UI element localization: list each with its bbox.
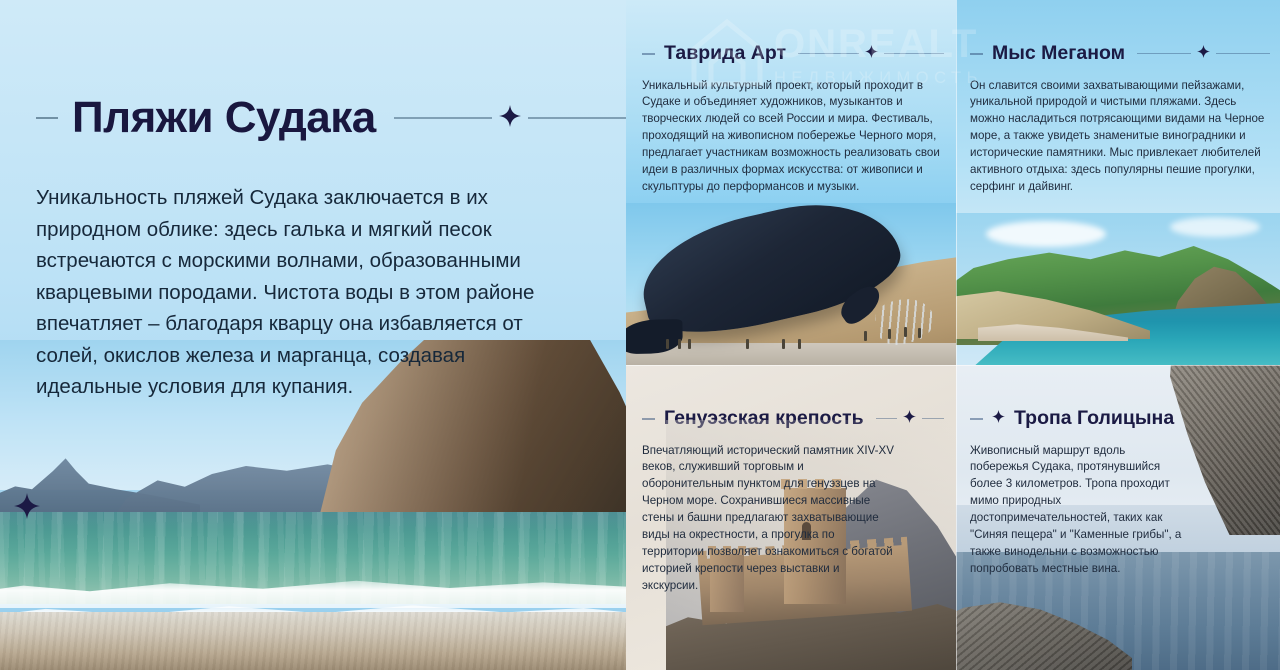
card-body: Уникальный культурный проект, который пр… (642, 78, 944, 196)
title-trailing-rule-2 (528, 117, 626, 119)
card-body-text: Живописный маршрут вдоль побережья Судак… (970, 443, 1185, 578)
title-trailing-rule (394, 117, 492, 119)
card-tavrida-art[interactable]: Таврида Арт Уникальный культурный проект… (626, 0, 956, 365)
hero-description-text: Уникальность пляжей Судака заключается в… (36, 182, 556, 403)
card-leading-rule (970, 53, 983, 55)
photo-cloud-2 (1170, 217, 1260, 237)
suadak-beaches-infographic: Пляжи Судака Уникальность пляжей Судака … (0, 0, 1280, 670)
card-title: Тропа Голицына (1014, 409, 1174, 429)
card-photo-whale-sculpture (626, 203, 956, 365)
title-leading-rule (36, 117, 58, 119)
card-content: Мыс Меганом Он славится своими захватыва… (956, 0, 1280, 196)
card-mys-meganom[interactable]: Мыс Меганом Он славится своими захватыва… (956, 0, 1280, 365)
sparkle-icon (992, 410, 1005, 428)
hero-text-block: Пляжи Судака Уникальность пляжей Судака … (0, 0, 626, 403)
page-title: Пляжи Судака (72, 96, 376, 140)
grid-vertical-divider (956, 0, 957, 670)
card-body: Живописный маршрут вдоль побережья Судак… (970, 443, 1185, 578)
grid-horizontal-divider (626, 365, 1280, 366)
title-trailing-decoration (394, 105, 626, 132)
card-body-text: Впечатляющий исторический памятник XIV-X… (642, 443, 897, 595)
hero-pebble-beach (0, 612, 626, 670)
page-title-row: Пляжи Судака (36, 96, 626, 140)
card-trailing-rule-2 (1216, 53, 1270, 54)
card-photo-meganom-bay (956, 213, 1280, 365)
card-leading-rule (642, 418, 655, 420)
card-trailing-rule-2 (922, 418, 944, 419)
card-leading-rule (642, 53, 655, 55)
photo-visitors (626, 327, 956, 349)
sparkle-icon (865, 45, 878, 63)
hero-description: Уникальность пляжей Судака заключается в… (36, 182, 556, 403)
card-golitsyn-trail[interactable]: Тропа Голицына Живописный маршрут вдоль … (956, 365, 1280, 670)
card-header: Генуэзская крепость (642, 365, 944, 429)
card-trailing-rule (876, 418, 898, 419)
card-body-text: Он славится своими захватывающими пейзаж… (970, 78, 1270, 196)
card-trailing-rule-2 (884, 53, 944, 54)
photo-cloud (986, 221, 1106, 247)
card-title: Таврида Арт (664, 44, 786, 64)
card-leading-rule (970, 418, 983, 420)
card-trailing-rule (798, 53, 858, 54)
card-trailing-decoration (798, 45, 944, 63)
card-trailing-decoration (1137, 45, 1270, 63)
left-hero-panel: Пляжи Судака Уникальность пляжей Судака … (0, 0, 626, 670)
sparkle-icon (499, 105, 521, 132)
attractions-grid: Таврида Арт Уникальный культурный проект… (626, 0, 1280, 670)
card-trailing-rule (1137, 53, 1191, 54)
card-header: Мыс Меганом (970, 0, 1270, 64)
sparkle-icon (14, 493, 40, 524)
card-title: Мыс Меганом (992, 44, 1125, 64)
card-body-text: Уникальный культурный проект, который пр… (642, 78, 944, 196)
card-genoese-fortress[interactable]: Генуэзская крепость Впечатляющий историч… (626, 365, 956, 670)
card-body: Впечатляющий исторический памятник XIV-X… (642, 443, 897, 595)
card-content: Таврида Арт Уникальный культурный проект… (626, 0, 956, 196)
sparkle-icon (1197, 45, 1210, 63)
card-header: Таврида Арт (642, 0, 944, 64)
card-body: Он славится своими захватывающими пейзаж… (970, 78, 1270, 196)
